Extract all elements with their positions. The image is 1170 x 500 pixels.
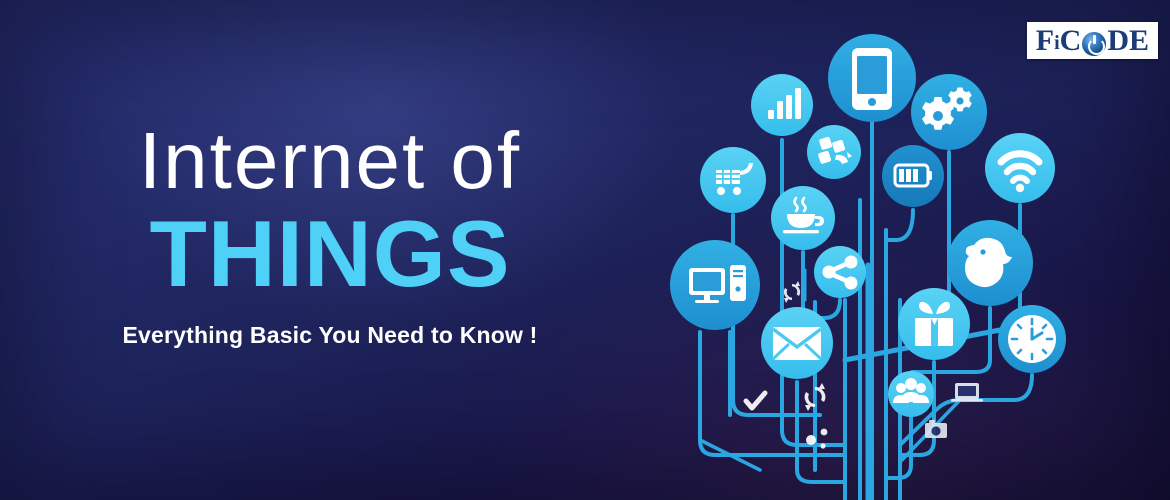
node-wifi[interactable]	[985, 133, 1055, 203]
page-title-line-1: Internet of	[0, 118, 660, 204]
node-desktop-pc[interactable]	[670, 240, 760, 330]
node-clock[interactable]	[998, 305, 1066, 373]
logo-letter-c: C	[1060, 25, 1082, 57]
page-title-line-2: THINGS	[0, 206, 660, 302]
ficode-logo-text: FiCDE	[1036, 25, 1149, 57]
node-circle	[814, 246, 866, 298]
node-gears[interactable]	[911, 74, 987, 150]
node-circle	[807, 125, 861, 179]
node-envelope[interactable]	[761, 307, 833, 379]
node-battery[interactable]	[882, 145, 944, 207]
iot-banner: FiCDE	[0, 0, 1170, 500]
node-bar-chart[interactable]	[751, 74, 813, 136]
logo-letters-de: DE	[1107, 25, 1149, 57]
check-icon	[746, 393, 765, 408]
page-subtitle: Everything Basic You Need to Know !	[0, 320, 660, 350]
node-coffee[interactable]	[771, 186, 835, 250]
node-smartphone[interactable]	[828, 34, 916, 122]
node-shopping-cart[interactable]	[700, 147, 766, 213]
node-people-group[interactable]	[888, 371, 934, 417]
logo-letter-f: F	[1036, 25, 1054, 57]
smartphone-icon	[852, 48, 892, 110]
headline-block: Internet of THINGS Everything Basic You …	[0, 118, 660, 350]
sync-icon-upper	[784, 281, 800, 303]
ficode-logo[interactable]: FiCDE	[1027, 22, 1158, 59]
logo-letter-i: i	[1054, 27, 1060, 59]
node-satellite[interactable]	[807, 125, 861, 179]
node-gift[interactable]	[898, 288, 970, 360]
envelope-icon	[773, 327, 821, 360]
node-share[interactable]	[814, 246, 866, 298]
logo-power-o-icon	[1082, 32, 1106, 56]
wifi-dot	[1016, 184, 1024, 192]
node-bird[interactable]	[947, 220, 1033, 306]
